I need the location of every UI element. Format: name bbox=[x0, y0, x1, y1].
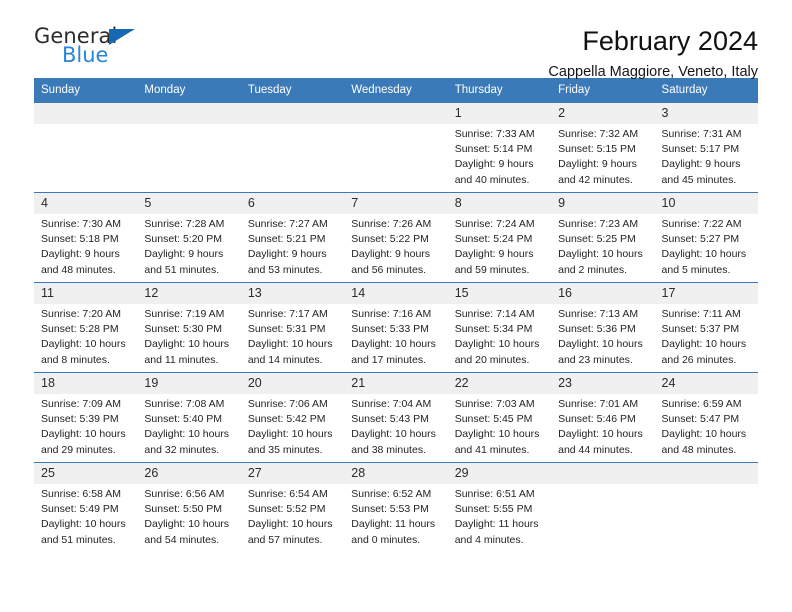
daylight-text-line1: Daylight: 9 hours bbox=[558, 157, 648, 172]
day-number: 23 bbox=[551, 373, 654, 394]
day-details: Sunrise: 7:16 AMSunset: 5:33 PMDaylight:… bbox=[344, 304, 447, 369]
day-details: Sunrise: 7:33 AMSunset: 5:14 PMDaylight:… bbox=[448, 124, 551, 189]
day-number bbox=[551, 463, 654, 484]
calendar-day-cell[interactable]: 25Sunrise: 6:58 AMSunset: 5:49 PMDayligh… bbox=[34, 462, 137, 552]
sunset-text: Sunset: 5:28 PM bbox=[41, 322, 131, 337]
daylight-text-line1: Daylight: 10 hours bbox=[351, 337, 441, 352]
calendar-day-cell[interactable]: 11Sunrise: 7:20 AMSunset: 5:28 PMDayligh… bbox=[34, 282, 137, 372]
sunrise-text: Sunrise: 7:11 AM bbox=[662, 307, 752, 322]
sunrise-text: Sunrise: 7:20 AM bbox=[41, 307, 131, 322]
sunset-text: Sunset: 5:40 PM bbox=[144, 412, 234, 427]
calendar-day-cell[interactable]: 17Sunrise: 7:11 AMSunset: 5:37 PMDayligh… bbox=[655, 282, 758, 372]
daylight-text-line1: Daylight: 9 hours bbox=[351, 247, 441, 262]
daylight-text-line1: Daylight: 9 hours bbox=[455, 157, 545, 172]
daylight-text-line1: Daylight: 10 hours bbox=[248, 427, 338, 442]
calendar-day-cell[interactable]: 27Sunrise: 6:54 AMSunset: 5:52 PMDayligh… bbox=[241, 462, 344, 552]
day-number: 14 bbox=[344, 283, 447, 304]
day-number: 22 bbox=[448, 373, 551, 394]
day-number: 18 bbox=[34, 373, 137, 394]
daylight-text-line2: and 17 minutes. bbox=[351, 353, 441, 368]
sunset-text: Sunset: 5:49 PM bbox=[41, 502, 131, 517]
daylight-text-line1: Daylight: 10 hours bbox=[248, 337, 338, 352]
weekday-header-friday: Friday bbox=[551, 78, 654, 103]
day-details: Sunrise: 7:08 AMSunset: 5:40 PMDaylight:… bbox=[137, 394, 240, 459]
calendar-week-row: 11Sunrise: 7:20 AMSunset: 5:28 PMDayligh… bbox=[34, 282, 758, 372]
day-number: 15 bbox=[448, 283, 551, 304]
calendar-day-cell[interactable]: 9Sunrise: 7:23 AMSunset: 5:25 PMDaylight… bbox=[551, 192, 654, 282]
sunset-text: Sunset: 5:37 PM bbox=[662, 322, 752, 337]
daylight-text-line1: Daylight: 10 hours bbox=[248, 517, 338, 532]
weekday-header-sunday: Sunday bbox=[34, 78, 137, 103]
day-details: Sunrise: 7:28 AMSunset: 5:20 PMDaylight:… bbox=[137, 214, 240, 279]
day-number: 5 bbox=[137, 193, 240, 214]
day-details: Sunrise: 7:11 AMSunset: 5:37 PMDaylight:… bbox=[655, 304, 758, 369]
daylight-text-line1: Daylight: 9 hours bbox=[144, 247, 234, 262]
daylight-text-line1: Daylight: 10 hours bbox=[662, 337, 752, 352]
sunrise-text: Sunrise: 6:58 AM bbox=[41, 487, 131, 502]
calendar-day-cell[interactable]: 20Sunrise: 7:06 AMSunset: 5:42 PMDayligh… bbox=[241, 372, 344, 462]
calendar-day-cell-empty bbox=[551, 462, 654, 552]
daylight-text-line2: and 0 minutes. bbox=[351, 533, 441, 548]
day-details: Sunrise: 6:59 AMSunset: 5:47 PMDaylight:… bbox=[655, 394, 758, 459]
sunrise-text: Sunrise: 7:23 AM bbox=[558, 217, 648, 232]
daylight-text-line2: and 11 minutes. bbox=[144, 353, 234, 368]
daylight-text-line1: Daylight: 10 hours bbox=[455, 427, 545, 442]
calendar-day-cell[interactable]: 14Sunrise: 7:16 AMSunset: 5:33 PMDayligh… bbox=[344, 282, 447, 372]
daylight-text-line2: and 48 minutes. bbox=[41, 263, 131, 278]
weekday-header-wednesday: Wednesday bbox=[344, 78, 447, 103]
sunset-text: Sunset: 5:43 PM bbox=[351, 412, 441, 427]
sunrise-text: Sunrise: 6:59 AM bbox=[662, 397, 752, 412]
day-number bbox=[344, 103, 447, 124]
sunrise-text: Sunrise: 7:24 AM bbox=[455, 217, 545, 232]
sunset-text: Sunset: 5:22 PM bbox=[351, 232, 441, 247]
daylight-text-line2: and 4 minutes. bbox=[455, 533, 545, 548]
daylight-text-line2: and 48 minutes. bbox=[662, 443, 752, 458]
day-details: Sunrise: 6:51 AMSunset: 5:55 PMDaylight:… bbox=[448, 484, 551, 549]
title-block: February 2024 Cappella Maggiore, Veneto,… bbox=[548, 26, 758, 81]
day-number: 9 bbox=[551, 193, 654, 214]
daylight-text-line1: Daylight: 10 hours bbox=[144, 337, 234, 352]
daylight-text-line1: Daylight: 10 hours bbox=[558, 247, 648, 262]
daylight-text-line1: Daylight: 10 hours bbox=[41, 427, 131, 442]
day-details: Sunrise: 7:23 AMSunset: 5:25 PMDaylight:… bbox=[551, 214, 654, 279]
day-number: 20 bbox=[241, 373, 344, 394]
sunrise-text: Sunrise: 7:22 AM bbox=[662, 217, 752, 232]
calendar-week-row: 25Sunrise: 6:58 AMSunset: 5:49 PMDayligh… bbox=[34, 462, 758, 552]
sunrise-text: Sunrise: 7:30 AM bbox=[41, 217, 131, 232]
daylight-text-line1: Daylight: 10 hours bbox=[662, 247, 752, 262]
daylight-text-line1: Daylight: 9 hours bbox=[455, 247, 545, 262]
day-details: Sunrise: 7:24 AMSunset: 5:24 PMDaylight:… bbox=[448, 214, 551, 279]
day-details: Sunrise: 7:03 AMSunset: 5:45 PMDaylight:… bbox=[448, 394, 551, 459]
day-details: Sunrise: 7:32 AMSunset: 5:15 PMDaylight:… bbox=[551, 124, 654, 189]
sunrise-text: Sunrise: 7:16 AM bbox=[351, 307, 441, 322]
sunrise-text: Sunrise: 7:33 AM bbox=[455, 127, 545, 142]
calendar-day-cell[interactable]: 8Sunrise: 7:24 AMSunset: 5:24 PMDaylight… bbox=[448, 192, 551, 282]
weekday-header-tuesday: Tuesday bbox=[241, 78, 344, 103]
sunrise-text: Sunrise: 7:01 AM bbox=[558, 397, 648, 412]
sunset-text: Sunset: 5:45 PM bbox=[455, 412, 545, 427]
sunset-text: Sunset: 5:14 PM bbox=[455, 142, 545, 157]
sunset-text: Sunset: 5:55 PM bbox=[455, 502, 545, 517]
sunset-text: Sunset: 5:15 PM bbox=[558, 142, 648, 157]
daylight-text-line1: Daylight: 9 hours bbox=[41, 247, 131, 262]
daylight-text-line2: and 8 minutes. bbox=[41, 353, 131, 368]
day-details: Sunrise: 7:31 AMSunset: 5:17 PMDaylight:… bbox=[655, 124, 758, 189]
sunset-text: Sunset: 5:18 PM bbox=[41, 232, 131, 247]
day-details: Sunrise: 7:14 AMSunset: 5:34 PMDaylight:… bbox=[448, 304, 551, 369]
day-number bbox=[241, 103, 344, 124]
daylight-text-line2: and 53 minutes. bbox=[248, 263, 338, 278]
daylight-text-line1: Daylight: 11 hours bbox=[455, 517, 545, 532]
daylight-text-line1: Daylight: 9 hours bbox=[662, 157, 752, 172]
calendar-body: 1Sunrise: 7:33 AMSunset: 5:14 PMDaylight… bbox=[34, 103, 758, 552]
day-number: 27 bbox=[241, 463, 344, 484]
calendar-day-cell[interactable]: 1Sunrise: 7:33 AMSunset: 5:14 PMDaylight… bbox=[448, 103, 551, 193]
daylight-text-line2: and 5 minutes. bbox=[662, 263, 752, 278]
sunset-text: Sunset: 5:24 PM bbox=[455, 232, 545, 247]
sunset-text: Sunset: 5:30 PM bbox=[144, 322, 234, 337]
sunset-text: Sunset: 5:21 PM bbox=[248, 232, 338, 247]
sunrise-text: Sunrise: 6:54 AM bbox=[248, 487, 338, 502]
sunrise-text: Sunrise: 7:03 AM bbox=[455, 397, 545, 412]
daylight-text-line2: and 45 minutes. bbox=[662, 173, 752, 188]
calendar-day-cell[interactable]: 21Sunrise: 7:04 AMSunset: 5:43 PMDayligh… bbox=[344, 372, 447, 462]
sunset-text: Sunset: 5:39 PM bbox=[41, 412, 131, 427]
day-details: Sunrise: 7:22 AMSunset: 5:27 PMDaylight:… bbox=[655, 214, 758, 279]
daylight-text-line2: and 2 minutes. bbox=[558, 263, 648, 278]
sunset-text: Sunset: 5:36 PM bbox=[558, 322, 648, 337]
sunrise-text: Sunrise: 7:06 AM bbox=[248, 397, 338, 412]
sunrise-text: Sunrise: 7:28 AM bbox=[144, 217, 234, 232]
calendar-week-row: 18Sunrise: 7:09 AMSunset: 5:39 PMDayligh… bbox=[34, 372, 758, 462]
daylight-text-line1: Daylight: 10 hours bbox=[662, 427, 752, 442]
daylight-text-line2: and 51 minutes. bbox=[144, 263, 234, 278]
sunrise-text: Sunrise: 6:52 AM bbox=[351, 487, 441, 502]
day-details: Sunrise: 7:26 AMSunset: 5:22 PMDaylight:… bbox=[344, 214, 447, 279]
sunset-text: Sunset: 5:42 PM bbox=[248, 412, 338, 427]
day-number: 2 bbox=[551, 103, 654, 124]
daylight-text-line1: Daylight: 10 hours bbox=[351, 427, 441, 442]
daylight-text-line2: and 59 minutes. bbox=[455, 263, 545, 278]
calendar-table: Sunday Monday Tuesday Wednesday Thursday… bbox=[34, 78, 758, 552]
day-number: 25 bbox=[34, 463, 137, 484]
weekday-header-monday: Monday bbox=[137, 78, 240, 103]
day-details: Sunrise: 7:27 AMSunset: 5:21 PMDaylight:… bbox=[241, 214, 344, 279]
day-number: 17 bbox=[655, 283, 758, 304]
daylight-text-line2: and 57 minutes. bbox=[248, 533, 338, 548]
calendar-day-cell[interactable]: 7Sunrise: 7:26 AMSunset: 5:22 PMDaylight… bbox=[344, 192, 447, 282]
day-details: Sunrise: 6:56 AMSunset: 5:50 PMDaylight:… bbox=[137, 484, 240, 549]
sunrise-text: Sunrise: 7:19 AM bbox=[144, 307, 234, 322]
day-number: 13 bbox=[241, 283, 344, 304]
day-number: 19 bbox=[137, 373, 240, 394]
day-details: Sunrise: 7:20 AMSunset: 5:28 PMDaylight:… bbox=[34, 304, 137, 369]
day-number: 4 bbox=[34, 193, 137, 214]
sunset-text: Sunset: 5:47 PM bbox=[662, 412, 752, 427]
day-number: 10 bbox=[655, 193, 758, 214]
calendar-week-row: 4Sunrise: 7:30 AMSunset: 5:18 PMDaylight… bbox=[34, 192, 758, 282]
sunset-text: Sunset: 5:25 PM bbox=[558, 232, 648, 247]
day-details: Sunrise: 6:54 AMSunset: 5:52 PMDaylight:… bbox=[241, 484, 344, 549]
day-number: 3 bbox=[655, 103, 758, 124]
calendar-day-cell-empty bbox=[344, 103, 447, 193]
daylight-text-line2: and 56 minutes. bbox=[351, 263, 441, 278]
day-number: 24 bbox=[655, 373, 758, 394]
day-number: 21 bbox=[344, 373, 447, 394]
daylight-text-line2: and 29 minutes. bbox=[41, 443, 131, 458]
sunset-text: Sunset: 5:20 PM bbox=[144, 232, 234, 247]
day-number: 8 bbox=[448, 193, 551, 214]
sunrise-text: Sunrise: 7:32 AM bbox=[558, 127, 648, 142]
day-number: 28 bbox=[344, 463, 447, 484]
daylight-text-line2: and 38 minutes. bbox=[351, 443, 441, 458]
sunrise-text: Sunrise: 6:56 AM bbox=[144, 487, 234, 502]
sunset-text: Sunset: 5:27 PM bbox=[662, 232, 752, 247]
calendar-day-cell[interactable]: 13Sunrise: 7:17 AMSunset: 5:31 PMDayligh… bbox=[241, 282, 344, 372]
daylight-text-line1: Daylight: 11 hours bbox=[351, 517, 441, 532]
daylight-text-line2: and 20 minutes. bbox=[455, 353, 545, 368]
day-details: Sunrise: 7:30 AMSunset: 5:18 PMDaylight:… bbox=[34, 214, 137, 279]
weekday-header-saturday: Saturday bbox=[655, 78, 758, 103]
day-details: Sunrise: 7:19 AMSunset: 5:30 PMDaylight:… bbox=[137, 304, 240, 369]
day-details: Sunrise: 7:17 AMSunset: 5:31 PMDaylight:… bbox=[241, 304, 344, 369]
sunset-text: Sunset: 5:53 PM bbox=[351, 502, 441, 517]
calendar-day-cell[interactable]: 6Sunrise: 7:27 AMSunset: 5:21 PMDaylight… bbox=[241, 192, 344, 282]
calendar-day-cell[interactable]: 3Sunrise: 7:31 AMSunset: 5:17 PMDaylight… bbox=[655, 103, 758, 193]
day-number bbox=[655, 463, 758, 484]
sunrise-text: Sunrise: 7:09 AM bbox=[41, 397, 131, 412]
day-number: 6 bbox=[241, 193, 344, 214]
logo-triangle-icon bbox=[109, 29, 135, 45]
sunrise-text: Sunrise: 7:27 AM bbox=[248, 217, 338, 232]
calendar-week-row: 1Sunrise: 7:33 AMSunset: 5:14 PMDaylight… bbox=[34, 103, 758, 193]
calendar-day-cell[interactable]: 18Sunrise: 7:09 AMSunset: 5:39 PMDayligh… bbox=[34, 372, 137, 462]
daylight-text-line2: and 14 minutes. bbox=[248, 353, 338, 368]
daylight-text-line2: and 40 minutes. bbox=[455, 173, 545, 188]
calendar-day-cell-empty bbox=[241, 103, 344, 193]
sunrise-text: Sunrise: 6:51 AM bbox=[455, 487, 545, 502]
day-number: 29 bbox=[448, 463, 551, 484]
calendar-day-cell-empty bbox=[34, 103, 137, 193]
sunset-text: Sunset: 5:17 PM bbox=[662, 142, 752, 157]
daylight-text-line1: Daylight: 10 hours bbox=[558, 337, 648, 352]
weekday-header-thursday: Thursday bbox=[448, 78, 551, 103]
calendar-header-row: Sunday Monday Tuesday Wednesday Thursday… bbox=[34, 78, 758, 103]
daylight-text-line1: Daylight: 9 hours bbox=[248, 247, 338, 262]
daylight-text-line2: and 44 minutes. bbox=[558, 443, 648, 458]
calendar-day-cell[interactable]: 15Sunrise: 7:14 AMSunset: 5:34 PMDayligh… bbox=[448, 282, 551, 372]
daylight-text-line2: and 26 minutes. bbox=[662, 353, 752, 368]
sunrise-text: Sunrise: 7:13 AM bbox=[558, 307, 648, 322]
day-number: 11 bbox=[34, 283, 137, 304]
sunrise-text: Sunrise: 7:08 AM bbox=[144, 397, 234, 412]
day-details: Sunrise: 7:04 AMSunset: 5:43 PMDaylight:… bbox=[344, 394, 447, 459]
calendar-day-cell[interactable]: 28Sunrise: 6:52 AMSunset: 5:53 PMDayligh… bbox=[344, 462, 447, 552]
daylight-text-line1: Daylight: 10 hours bbox=[558, 427, 648, 442]
daylight-text-line1: Daylight: 10 hours bbox=[455, 337, 545, 352]
day-number: 7 bbox=[344, 193, 447, 214]
page-header: General Blue February 2024 Cappella Magg… bbox=[34, 0, 758, 74]
sunrise-text: Sunrise: 7:26 AM bbox=[351, 217, 441, 232]
daylight-text-line2: and 54 minutes. bbox=[144, 533, 234, 548]
daylight-text-line2: and 42 minutes. bbox=[558, 173, 648, 188]
day-number bbox=[137, 103, 240, 124]
day-number: 12 bbox=[137, 283, 240, 304]
calendar-day-cell[interactable]: 2Sunrise: 7:32 AMSunset: 5:15 PMDaylight… bbox=[551, 103, 654, 193]
sunset-text: Sunset: 5:50 PM bbox=[144, 502, 234, 517]
calendar-page: General Blue February 2024 Cappella Magg… bbox=[0, 0, 792, 612]
day-number: 16 bbox=[551, 283, 654, 304]
day-number bbox=[34, 103, 137, 124]
daylight-text-line2: and 23 minutes. bbox=[558, 353, 648, 368]
calendar-day-cell[interactable]: 4Sunrise: 7:30 AMSunset: 5:18 PMDaylight… bbox=[34, 192, 137, 282]
daylight-text-line1: Daylight: 10 hours bbox=[144, 517, 234, 532]
daylight-text-line1: Daylight: 10 hours bbox=[41, 337, 131, 352]
calendar-day-cell[interactable]: 24Sunrise: 6:59 AMSunset: 5:47 PMDayligh… bbox=[655, 372, 758, 462]
day-details: Sunrise: 7:13 AMSunset: 5:36 PMDaylight:… bbox=[551, 304, 654, 369]
calendar-day-cell[interactable]: 23Sunrise: 7:01 AMSunset: 5:46 PMDayligh… bbox=[551, 372, 654, 462]
page-subtitle: Cappella Maggiore, Veneto, Italy bbox=[548, 65, 758, 81]
day-details: Sunrise: 7:06 AMSunset: 5:42 PMDaylight:… bbox=[241, 394, 344, 459]
day-details: Sunrise: 7:09 AMSunset: 5:39 PMDaylight:… bbox=[34, 394, 137, 459]
day-details: Sunrise: 7:01 AMSunset: 5:46 PMDaylight:… bbox=[551, 394, 654, 459]
sunrise-text: Sunrise: 7:31 AM bbox=[662, 127, 752, 142]
sunset-text: Sunset: 5:31 PM bbox=[248, 322, 338, 337]
calendar-day-cell[interactable]: 12Sunrise: 7:19 AMSunset: 5:30 PMDayligh… bbox=[137, 282, 240, 372]
daylight-text-line2: and 35 minutes. bbox=[248, 443, 338, 458]
sunset-text: Sunset: 5:34 PM bbox=[455, 322, 545, 337]
sunset-text: Sunset: 5:33 PM bbox=[351, 322, 441, 337]
day-details: Sunrise: 6:52 AMSunset: 5:53 PMDaylight:… bbox=[344, 484, 447, 549]
calendar-day-cell[interactable]: 5Sunrise: 7:28 AMSunset: 5:20 PMDaylight… bbox=[137, 192, 240, 282]
daylight-text-line2: and 41 minutes. bbox=[455, 443, 545, 458]
sunset-text: Sunset: 5:52 PM bbox=[248, 502, 338, 517]
calendar-day-cell[interactable]: 22Sunrise: 7:03 AMSunset: 5:45 PMDayligh… bbox=[448, 372, 551, 462]
sunset-text: Sunset: 5:46 PM bbox=[558, 412, 648, 427]
calendar-day-cell[interactable]: 29Sunrise: 6:51 AMSunset: 5:55 PMDayligh… bbox=[448, 462, 551, 552]
calendar-day-cell[interactable]: 26Sunrise: 6:56 AMSunset: 5:50 PMDayligh… bbox=[137, 462, 240, 552]
daylight-text-line2: and 32 minutes. bbox=[144, 443, 234, 458]
sunrise-text: Sunrise: 7:14 AM bbox=[455, 307, 545, 322]
logo-text-blue: Blue bbox=[62, 45, 108, 66]
sunrise-text: Sunrise: 7:04 AM bbox=[351, 397, 441, 412]
day-details: Sunrise: 6:58 AMSunset: 5:49 PMDaylight:… bbox=[34, 484, 137, 549]
calendar-day-cell[interactable]: 10Sunrise: 7:22 AMSunset: 5:27 PMDayligh… bbox=[655, 192, 758, 282]
calendar-day-cell[interactable]: 16Sunrise: 7:13 AMSunset: 5:36 PMDayligh… bbox=[551, 282, 654, 372]
calendar-day-cell[interactable]: 19Sunrise: 7:08 AMSunset: 5:40 PMDayligh… bbox=[137, 372, 240, 462]
calendar-day-cell-empty bbox=[655, 462, 758, 552]
day-number: 26 bbox=[137, 463, 240, 484]
calendar-day-cell-empty bbox=[137, 103, 240, 193]
daylight-text-line1: Daylight: 10 hours bbox=[144, 427, 234, 442]
page-title: February 2024 bbox=[548, 27, 758, 56]
daylight-text-line1: Daylight: 10 hours bbox=[41, 517, 131, 532]
general-blue-logo[interactable]: General Blue bbox=[34, 26, 154, 72]
sunrise-text: Sunrise: 7:17 AM bbox=[248, 307, 338, 322]
daylight-text-line2: and 51 minutes. bbox=[41, 533, 131, 548]
day-number: 1 bbox=[448, 103, 551, 124]
